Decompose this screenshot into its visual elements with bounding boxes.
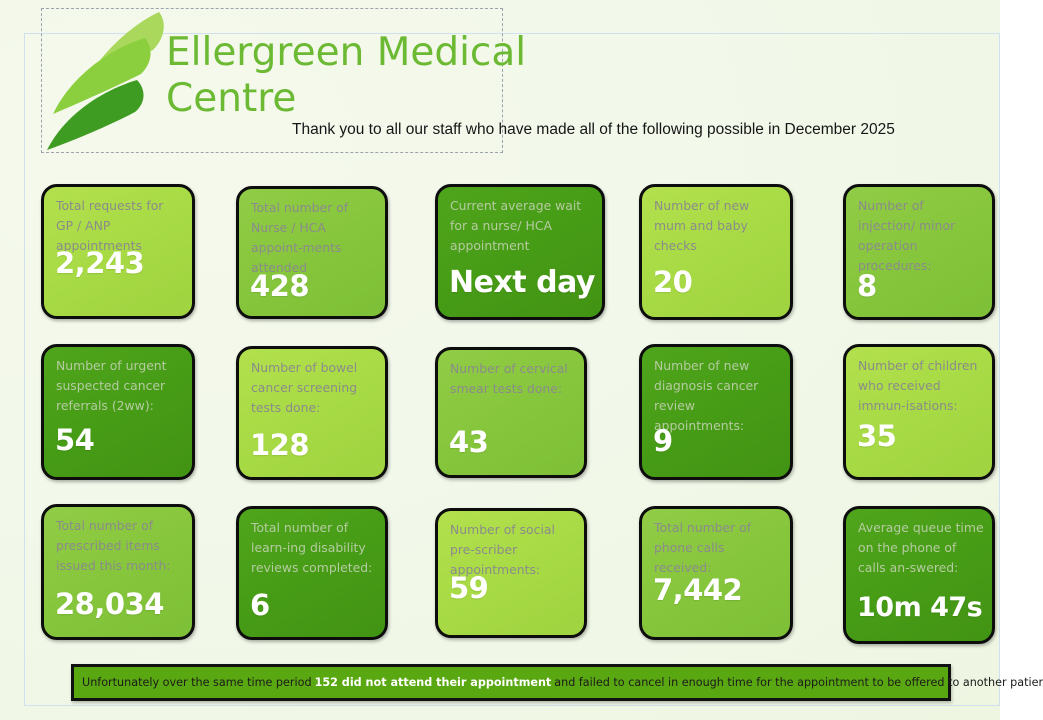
stat-card-label: Total number of prescribed items issued … [56, 516, 184, 576]
stat-card-value: 428 [250, 269, 309, 303]
stat-card-label: Number of urgent suspected cancer referr… [56, 356, 184, 416]
stat-card-value: 28,034 [55, 587, 164, 621]
stat-card: Number of new diagnosis cancer review ap… [639, 344, 793, 480]
stat-card: Number of social pre-scriber appointment… [435, 508, 587, 638]
dna-text-before: Unfortunately over the same time period [82, 676, 312, 689]
stat-card-label: Number of new diagnosis cancer review ap… [654, 356, 782, 436]
stat-card-value: 20 [653, 265, 692, 299]
stat-card-value: 128 [250, 428, 309, 462]
stat-card-value: Next day [449, 265, 595, 300]
dna-text-after: and failed to cancel in enough time for … [554, 676, 1043, 689]
stat-card: Total number of learn-ing disability rev… [236, 506, 388, 640]
stat-card-label: Number of injection/ minor operation pro… [858, 196, 984, 276]
stat-card-label: Number of cervical smear tests done: [450, 359, 576, 399]
stat-card-value: 6 [250, 588, 270, 622]
stat-card-value: 2,243 [55, 246, 144, 280]
stat-card-label: Current average wait for a nurse/ HCA ap… [450, 196, 594, 256]
stat-card: Number of injection/ minor operation pro… [843, 184, 995, 320]
stat-card-label: Total number of Nurse / HCA appoint-ment… [251, 198, 377, 278]
stat-card: Total number of phone calls received:7,4… [639, 506, 793, 640]
stat-card-label: Number of new mum and baby checks [654, 196, 782, 256]
stat-card-value: 7,442 [653, 573, 742, 607]
stat-card-label: Total number of phone calls received: [654, 518, 782, 578]
logo-title-line2: Centre [166, 76, 566, 122]
logo-title: Ellergreen Medical Centre [166, 30, 566, 122]
stat-card-value: 54 [55, 423, 94, 457]
stat-card-value: 10m 47s [857, 592, 982, 623]
stat-card-value: 43 [449, 425, 488, 459]
stat-card: Number of children who received immun-is… [843, 344, 995, 480]
stat-card-value: 9 [653, 424, 673, 458]
stat-card: Total requests for GP / ANP appointments… [41, 184, 195, 319]
stat-card-value: 8 [857, 269, 877, 303]
stat-card: Current average wait for a nurse/ HCA ap… [435, 184, 605, 320]
stat-card-value: 59 [449, 571, 488, 605]
dna-highlight: 152 did not attend their appointment [312, 676, 555, 689]
leaf-logo-icon [41, 10, 181, 158]
stat-card-label: Average queue time on the phone of calls… [858, 518, 984, 578]
stat-card: Average queue time on the phone of calls… [843, 506, 995, 644]
stat-card: Number of bowel cancer screening tests d… [236, 346, 388, 480]
dna-banner: Unfortunately over the same time period … [71, 664, 951, 701]
stat-card-label: Number of children who received immun-is… [858, 356, 984, 416]
stat-card: Number of urgent suspected cancer referr… [41, 344, 195, 480]
stat-card-value: 35 [857, 419, 896, 453]
thank-you-message: Thank you to all our staff who have made… [292, 121, 895, 139]
stat-card-label: Total number of learn-ing disability rev… [251, 518, 377, 578]
stat-card: Total number of prescribed items issued … [41, 504, 195, 640]
stat-card: Number of cervical smear tests done:43 [435, 347, 587, 478]
stat-card-label: Number of bowel cancer screening tests d… [251, 358, 377, 418]
stat-card: Total number of Nurse / HCA appoint-ment… [236, 186, 388, 319]
stat-card: Number of new mum and baby checks20 [639, 184, 793, 320]
logo-title-line1: Ellergreen Medical [166, 30, 566, 76]
